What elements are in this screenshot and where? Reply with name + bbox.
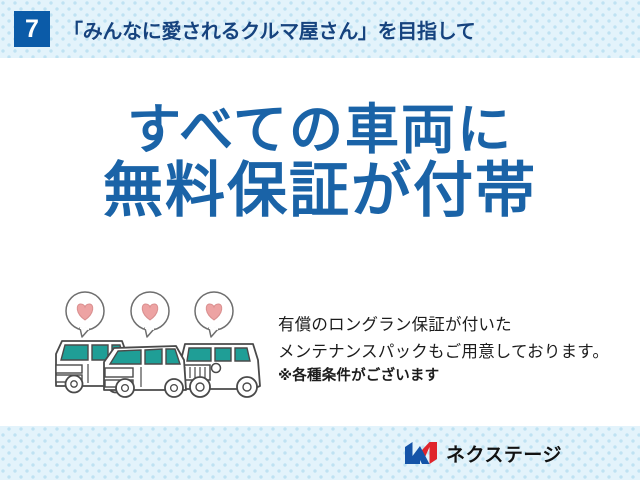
nexstage-logo: ネクステージ xyxy=(404,440,562,467)
heart-speech-bubble-2 xyxy=(131,292,169,337)
car-minivan xyxy=(104,346,186,397)
content-card: すべての車両に 無料保証が付帯 xyxy=(0,58,640,426)
heart-speech-bubble-3 xyxy=(195,292,233,337)
section-number-badge: 7 xyxy=(14,11,50,47)
header-title: 「みんなに愛されるクルマ屋さん」を目指して xyxy=(63,15,476,44)
description-block: 有償のロングラン保証が付いた メンテナンスパックもご用意しております。 ※各種条… xyxy=(278,312,640,389)
nexstage-logo-text: ネクステージ xyxy=(446,440,562,467)
footer: ネクステージ xyxy=(0,426,640,480)
three-cars-illustration xyxy=(48,288,270,408)
heart-speech-bubble-1 xyxy=(66,292,104,337)
nexstage-n-mark-icon xyxy=(404,441,438,465)
headline-line-1: すべての車両に xyxy=(0,102,640,159)
car-suv xyxy=(180,344,260,397)
headline: すべての車両に 無料保証が付帯 xyxy=(0,102,640,223)
warranty-banner: 7 「みんなに愛されるクルマ屋さん」を目指して すべての車両に 無料保証が付帯 xyxy=(0,0,640,480)
headline-line-2: 無料保証が付帯 xyxy=(0,159,640,223)
lower-section: 有償のロングラン保証が付いた メンテナンスパックもご用意しております。 ※各種条… xyxy=(0,288,640,418)
description-line-2: メンテナンスパックもご用意しております。 xyxy=(278,339,640,366)
description-note: ※各種条件がございます xyxy=(278,365,640,388)
header: 7 「みんなに愛されるクルマ屋さん」を目指して xyxy=(0,0,640,58)
description-line-1: 有償のロングラン保証が付いた xyxy=(278,312,640,339)
